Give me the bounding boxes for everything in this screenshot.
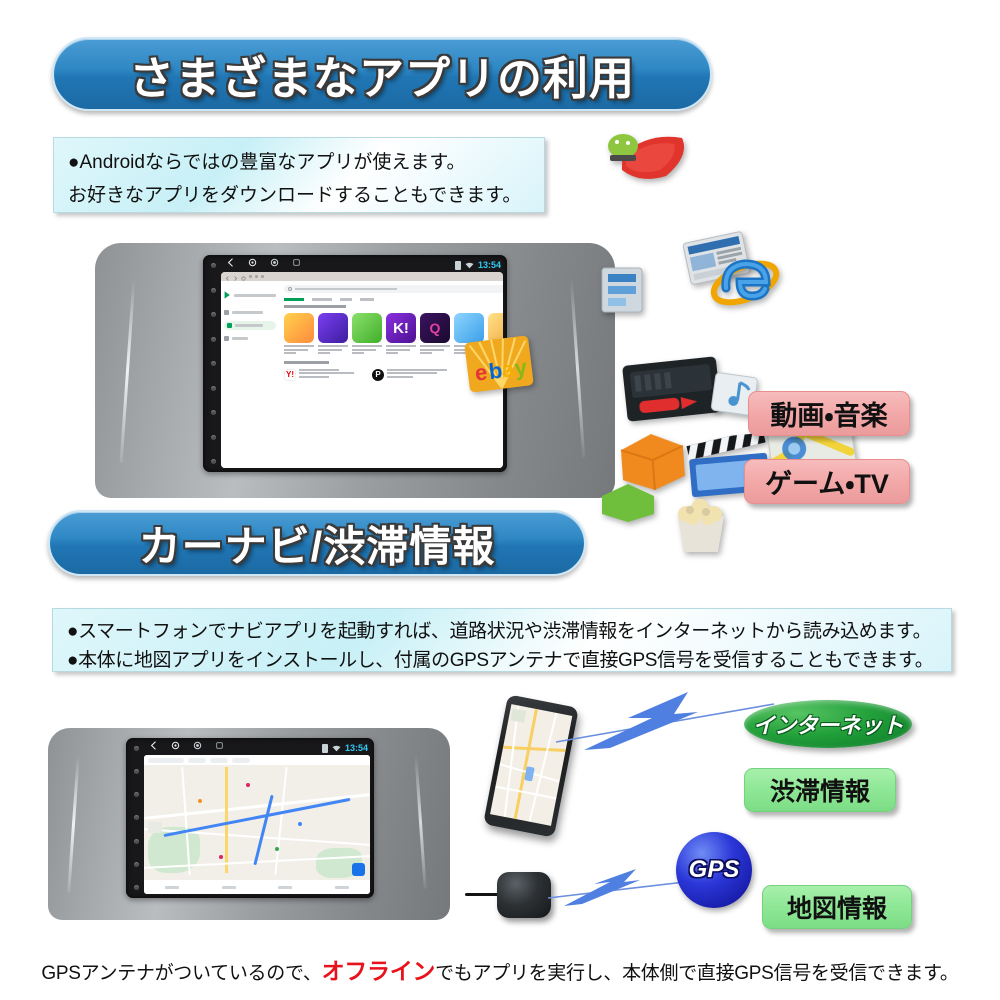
maps-filter-chip[interactable] [188,758,206,763]
android-status-bar-bottom: 13:54 [144,738,374,753]
section-banner-navigation-label: カーナビ/渋滞情報 [139,513,496,574]
app-icon[interactable] [352,313,382,343]
side-button[interactable] [211,410,216,415]
section-heading-recommended [284,305,346,308]
sidebar-item-apps[interactable] [224,321,276,330]
yahoo-icon: Y! [284,369,296,381]
side-button[interactable] [211,263,216,268]
app-icon[interactable]: K! [386,313,416,343]
bottom-caption: GPSアンテナがついているので、オフラインでもアプリを実行し、本体側で直接GPS… [0,952,1000,986]
app-tile[interactable] [352,313,382,356]
app-tile[interactable] [318,313,348,356]
maps-filter-chip[interactable] [210,758,228,763]
badge-video-music-label: 動画・音楽 [770,394,887,433]
section-banner-navigation: カーナビ/渋滞情報 [48,510,586,576]
sidebar-label [235,324,263,327]
maps-bottom-bar[interactable] [144,880,370,894]
home-icon[interactable] [171,738,180,755]
app-icon[interactable] [454,313,484,343]
games-icon [224,310,229,315]
poi-marker[interactable] [298,822,302,826]
browser-chrome-bar[interactable] [221,272,503,281]
app-icon[interactable] [318,313,348,343]
browser-tab-dot [249,275,252,278]
gps-globe-badge: GPS [676,832,752,908]
sidebar-label [232,337,248,340]
badge-map-info: 地図情報 [762,885,912,929]
google-maps-screen[interactable] [144,755,370,894]
recents-icon[interactable] [270,255,279,272]
caption-highlight: オフライン [322,958,436,984]
side-button[interactable] [211,435,216,440]
my-location-card[interactable] [148,822,162,833]
browser-tab-dot [261,275,264,278]
app-tile[interactable]: K! [386,313,416,356]
play-store-sidebar[interactable] [221,281,279,468]
head-unit-screen-bottom[interactable]: 13:54 [126,738,374,898]
tab-top-charts[interactable] [284,298,304,301]
green-package-icon [600,482,656,529]
video-player-icon [621,355,723,428]
navigation-description-line-1: ●スマートフォンでナビアプリを起動すれば、道路状況や渋滞情報をインターネットから… [67,617,937,646]
apps-description-line-1: ●Androidならではの豊富なアプリが使えます。 [68,146,530,179]
app-tile[interactable]: Q [420,313,450,356]
side-button[interactable] [211,459,216,464]
badge-traffic-info: 渋滞情報 [744,768,896,812]
play-store-tabs[interactable] [284,298,503,301]
poi-marker[interactable] [275,847,279,851]
destination-marker[interactable] [246,783,250,787]
major-road [225,767,228,873]
browser-tab-dot [255,275,258,278]
app-collage [600,112,900,402]
play-store-logo-row [224,286,276,304]
maps-tab-saved[interactable] [278,886,292,889]
internet-explorer-icon [710,252,780,319]
badge-video-music: 動画・音楽 [748,391,910,436]
apps-description-box: ●Androidならではの豊富なアプリが使えます。 お好きなアプリをダウンロード… [53,137,545,213]
gps-antenna-cable [465,893,501,896]
head-unit-side-buttons-bottom[interactable] [130,746,143,890]
status-clock-bottom: 13:54 [345,743,368,753]
tab-categories[interactable] [312,298,332,301]
books-icon [224,336,229,341]
side-button[interactable] [211,361,216,366]
sim-icon [455,261,461,270]
navigation-description-line-2: ●本体に地図アプリをインストールし、付属のGPSアンテナで直接GPS信号を受信す… [67,646,937,675]
side-button[interactable] [134,862,139,867]
section-banner-apps: さまざまなアプリの利用 [52,37,712,111]
ebay-card-icon: e b a y [463,334,535,394]
app-icon: P [372,369,384,381]
android-robot-icon [604,126,694,195]
side-button[interactable] [134,885,139,890]
caption-after: でもアプリを実行し、本体側で直接GPS信号を受信できます。 [435,963,959,984]
sidebar-item-games[interactable] [224,310,276,315]
google-play-icon [224,286,231,304]
side-button[interactable] [134,792,139,797]
badge-internet-label: インターネット [753,708,904,740]
menu-icon[interactable] [292,255,301,272]
side-button[interactable] [134,839,139,844]
poi-marker[interactable] [198,799,202,803]
list-item[interactable]: P [372,369,447,381]
head-unit-side-buttons-top[interactable] [207,263,220,464]
sidebar-label [232,311,263,314]
gps-antenna [497,872,551,918]
apps-icon [227,323,232,328]
navigation-description-box: ●スマートフォンでナビアプリを起動すれば、道路状況や渋滞情報をインターネットから… [52,608,952,672]
back-icon[interactable] [149,738,158,755]
popcorn-icon [658,496,744,559]
side-button[interactable] [211,288,216,293]
status-clock-top: 13:54 [478,260,501,270]
signal-bolt-internet [556,690,776,754]
maps-tab-commute[interactable] [222,886,236,889]
side-button[interactable] [211,337,216,342]
badge-map-info-label: 地図情報 [787,889,887,925]
play-store-title [234,294,276,297]
badge-traffic-info-label: 渋滞情報 [770,772,870,808]
badge-game-tv: ゲーム・TV [744,459,910,504]
app-icon[interactable] [284,313,314,343]
maps-search-bar[interactable] [144,755,370,765]
caption-before: GPSアンテナがついているので、 [41,963,321,984]
poi-marker[interactable] [219,855,223,859]
apps-description-line-2: お好きなアプリをダウンロードすることもできます。 [68,179,530,212]
section-heading-free-apps [284,361,329,364]
gps-globe-label: GPS [689,856,740,884]
section-banner-apps-label: さまざまなアプリの利用 [129,42,635,107]
home-icon[interactable] [248,255,257,272]
maps-search-input[interactable] [148,758,184,763]
tab-editors[interactable] [340,298,352,301]
car-dashboard-top: 13:54 [95,243,615,498]
maps-tab-explore[interactable] [165,886,179,889]
sidebar-item-books[interactable] [224,336,276,341]
side-button[interactable] [134,746,139,751]
car-dashboard-bottom: 13:54 [48,728,450,920]
badge-internet: インターネット [744,700,912,748]
play-store-search-input[interactable] [284,285,503,293]
sim-icon [322,744,328,753]
list-item[interactable]: Y! [284,369,354,381]
recents-icon[interactable] [193,738,202,755]
search-icon [288,287,292,291]
app-icon[interactable]: Q [420,313,450,343]
side-button[interactable] [211,386,216,391]
android-status-bar-top: 13:54 [221,255,507,270]
search-placeholder [295,288,397,290]
head-unit-screen-top[interactable]: 13:54 [203,255,507,472]
blue-cubes-icon [600,262,644,323]
side-button[interactable] [211,312,216,317]
side-button[interactable] [134,815,139,820]
side-button[interactable] [134,769,139,774]
back-icon[interactable] [226,255,235,272]
directions-fab[interactable] [352,863,365,876]
maps-filter-chip[interactable] [232,758,250,763]
maps-tab-contribute[interactable] [335,886,349,889]
tab-family[interactable] [360,298,374,301]
app-tile[interactable] [284,313,314,356]
menu-icon[interactable] [215,738,224,755]
badge-game-tv-label: ゲーム・TV [765,462,889,501]
google-play-screen[interactable]: K! Q [221,272,503,468]
